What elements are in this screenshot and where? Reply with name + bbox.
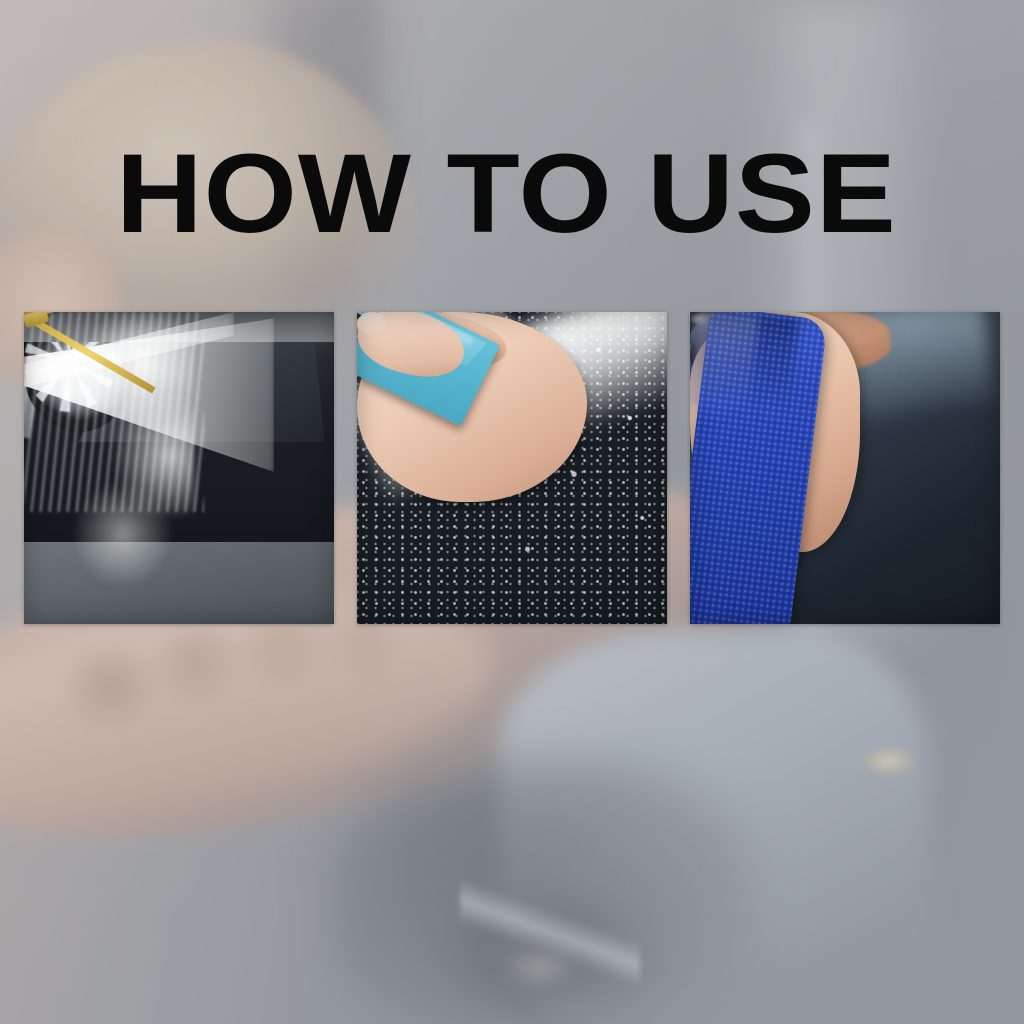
page-title: HOW TO USE bbox=[116, 138, 985, 250]
thumbnail bbox=[357, 312, 387, 334]
photo-strip bbox=[24, 312, 1002, 624]
poster: HOW TO USE bbox=[0, 0, 1024, 1024]
photo-sponge-wipe bbox=[357, 312, 667, 624]
photo-spray-car bbox=[24, 312, 334, 624]
photo-cloth-dry bbox=[690, 312, 1000, 624]
water-mist bbox=[24, 312, 194, 612]
